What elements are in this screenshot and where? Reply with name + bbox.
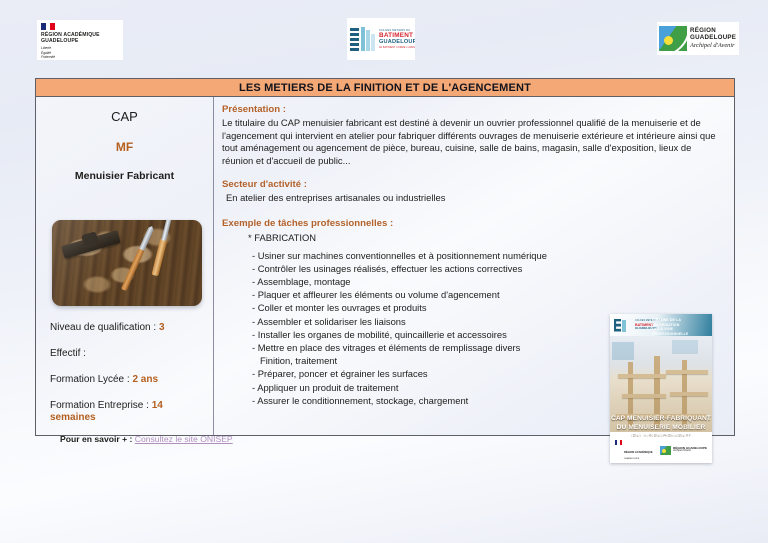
header-logo-bar: RÉGION ACADÉMIQUE GUADELOUPE Liberté Éga… [0,0,768,72]
fact-label-niveau: Niveau de qualification : [50,322,156,333]
list-item: Finition, traitement [260,354,590,367]
diploma-label: CAP [36,109,213,124]
section-secteur-activite: Secteur d'activité : En atelier des entr… [222,179,726,205]
brochure-title-line1: CAP MENUISIER-FABRIQUANT [610,414,712,423]
section-presentation: Présentation : Le titulaire du CAP menui… [222,104,726,168]
presentation-heading: Présentation : [222,104,726,116]
fact-label-effectif: Effectif : [50,348,86,359]
presentation-text: Le titulaire du CAP menuisier fabricant … [222,117,719,168]
fact-row-niveau: Niveau de qualification : 3 [50,322,207,334]
diploma-code: MF [36,140,213,154]
list-item: - Contrôler les usinages réalisés, effec… [252,262,582,275]
fiche-metier-card: LES METIERS DE LA FINITION ET DE L'AGENC… [35,78,735,436]
diploma-full-name: Menuisier Fabricant [36,170,213,182]
onisep-link[interactable]: Consultez le site ONISEP [135,434,233,444]
list-item: - Préparer, poncer et égrainer les surfa… [252,367,582,380]
logo-batiment-cfa: CFA DES METIERS DU BATIMENT GUADELOUPE L… [347,18,415,60]
logo-btp-line3: GUADELOUPE [379,39,415,45]
card-body: CAP MF Menuisier Fabricant Niveau de qua… [35,97,735,436]
brochure-footer-right: RÉGION GUADELOUPE Archipel d'Avenir [660,446,707,455]
list-item: - Assemblage, montage [252,275,582,288]
brochure-top-line1: SEMAINE DE LA VALORISATION [652,318,708,327]
fact-value-niveau: 3 [159,322,165,333]
secteur-heading: Secteur d'activité : [222,179,726,191]
logo-btp-line4: LE BATIMENT FORME L'AVENIR [379,46,415,49]
footer-lead: Pour en savoir + : [60,434,135,444]
list-item: - Usiner sur machines conventionnelles e… [252,249,582,262]
logo-academie-title: RÉGION ACADÉMIQUE GUADELOUPE [41,32,119,44]
taches-subheading: * FABRICATION [248,232,726,244]
fact-label-lycee: Formation Lycée : [50,374,130,385]
brochure-footer-left-line1: RÉGION ACADÉMIQUE [624,451,653,454]
logo-region-line1: RÉGION GUADELOUPE [690,27,737,41]
sidebar: CAP MF Menuisier Fabricant Niveau de qua… [36,97,214,435]
brochure-thumbnail: CFA DES METIERS DU BATIMENT GUADELOUPE S… [610,314,712,463]
logo-region-line2: Archipel d'Avenir [690,42,737,50]
page-title: LES METIERS DE LA FINITION ET DE L'AGENC… [239,82,531,94]
logo-academie-line2: GUADELOUPE [41,38,119,44]
woodworking-tools-photo [52,220,202,306]
brochure-cfa-logo-icon [614,319,632,332]
footer-note: Pour en savoir + : Consultez le site ONI… [60,434,233,444]
french-flag-icon [615,440,622,445]
brochure-footer-left-line2: GUADELOUPE [624,458,653,461]
list-item: - Appliquer un produit de traitement [252,381,582,394]
motto-fraternite: Fraternité [41,55,119,59]
logo-region-academique-guadeloupe: RÉGION ACADÉMIQUE GUADELOUPE Liberté Éga… [37,20,123,60]
list-item: - Mettre en place des vitrages et élémen… [252,341,582,354]
photo-glare [52,220,202,306]
brochure-title-line2: DU MENUISERIE MOBILIER [610,423,712,432]
list-item: - Assurer le conditionnement, stockage, … [252,394,582,407]
content-panel: Présentation : Le titulaire du CAP menui… [214,97,734,435]
brochure-header: CFA DES METIERS DU BATIMENT GUADELOUPE S… [610,314,712,336]
french-flag-icon [41,23,119,30]
list-item: - Coller et monter les ouvrages et produ… [252,301,582,314]
brochure-footer: RÉGION ACADÉMIQUE GUADELOUPE RÉGION GUAD… [610,437,712,463]
region-emblem-icon [660,446,671,455]
taches-heading: Exemple de tâches professionnelles : [222,218,726,230]
list-item: - Installer les organes de mobilité, qui… [252,328,582,341]
fact-row-lycee: Formation Lycée : 2 ans [50,374,207,386]
brochure-footer-right-line2: Archipel d'Avenir [673,450,707,453]
list-item: - Plaquer et affleurer les éléments ou v… [252,288,582,301]
fact-label-entreprise: Formation Entreprise : [50,400,149,411]
logo-region-guadeloupe: RÉGION GUADELOUPE Archipel d'Avenir [657,22,739,55]
logo-btp-line2: BATIMENT [379,32,415,39]
brochure-top-heading: SEMAINE DE LA VALORISATION DE LA VOIE PR… [652,318,708,336]
fact-row-entreprise: Formation Entreprise : 14 semaines [50,400,207,424]
list-item: - Assembler et solidariser les liaisons [252,315,582,328]
card-banner: LES METIERS DE LA FINITION ET DE L'AGENC… [35,78,735,97]
qualification-facts: Niveau de qualification : 3 Effectif : F… [50,322,207,438]
brochure-footer-left: RÉGION ACADÉMIQUE GUADELOUPE [615,440,653,461]
logo-academie-motto: Liberté Égalité Fraternité [41,46,119,58]
brochure-top-line2: DE LA VOIE PROFESSIONNELLE [652,327,708,336]
fact-value-lycee: 2 ans [132,374,158,385]
building-icon [350,26,376,52]
fact-row-effectif: Effectif : [50,348,207,360]
secteur-text: En atelier des entreprises artisanales o… [222,192,723,205]
region-emblem-icon [659,26,687,51]
